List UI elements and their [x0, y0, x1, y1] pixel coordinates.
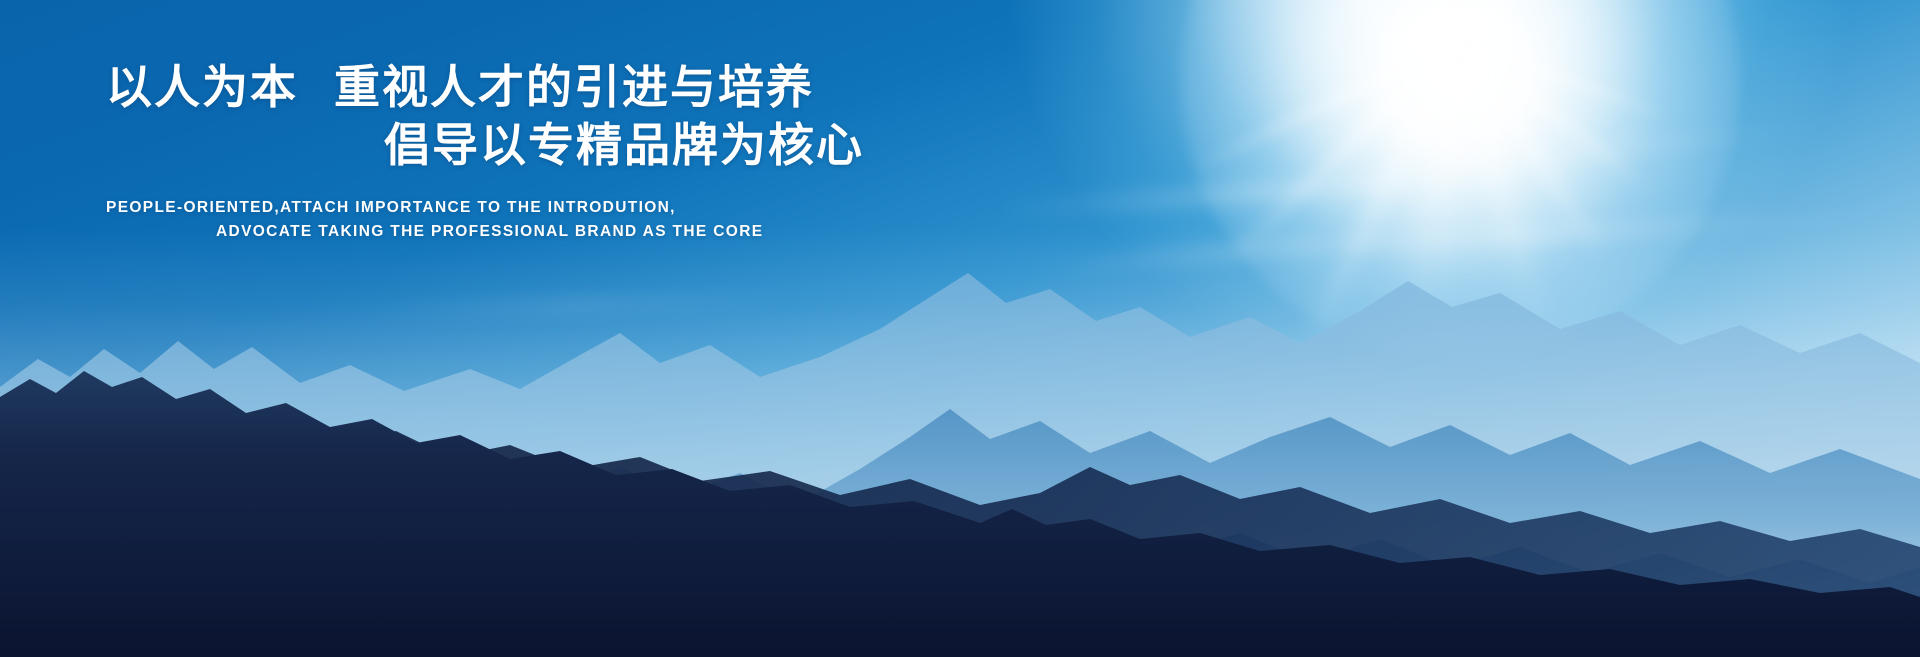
sun-ray-icon [1187, 37, 1460, 175]
hero-banner: 以人为本 重视人才的引进与培养 倡导以专精品牌为核心 PEOPLE-ORIENT… [0, 0, 1920, 657]
page-title-line1: 以人为本 重视人才的引进与培养 [106, 58, 1920, 116]
sun-ray-icon [1457, 37, 1675, 122]
page-title-line2: 倡导以专精品牌为核心 [106, 116, 1920, 174]
cloud-streak-icon [1291, 123, 1809, 189]
mountain-range-icon-foreground [0, 327, 1920, 657]
sun-ray-icon [1456, 37, 1658, 197]
subtitle-line1: PEOPLE-ORIENTED,ATTACH IMPORTANCE TO THE… [106, 196, 1920, 220]
banner-text-block: 以人为本 重视人才的引进与培养 倡导以专精品牌为核心 PEOPLE-ORIENT… [0, 0, 1920, 244]
sun-ray-icon [1454, 37, 1613, 266]
cloud-streak-icon [980, 160, 1600, 219]
